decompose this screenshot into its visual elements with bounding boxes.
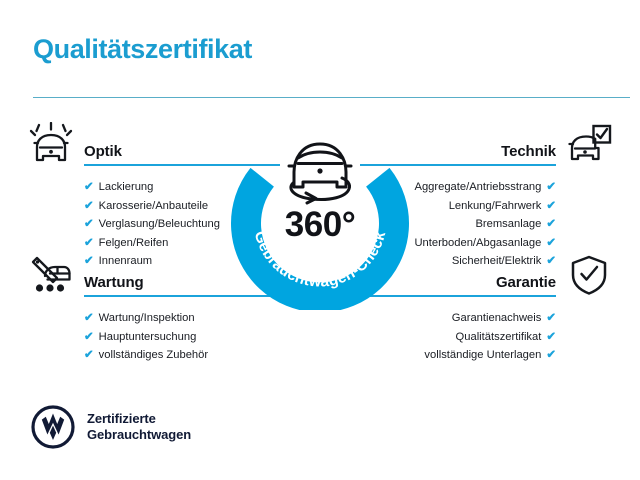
section-title: Optik bbox=[84, 143, 122, 160]
list-item-label: Verglasung/Beleuchtung bbox=[99, 218, 220, 230]
check-icon: ✔ bbox=[546, 331, 556, 343]
footer-line-1: Zertifizierte bbox=[87, 411, 191, 427]
footer-line-2: Gebrauchtwagen bbox=[87, 427, 191, 443]
check-icon: ✔ bbox=[546, 312, 556, 324]
section-title: Wartung bbox=[84, 274, 144, 291]
list-item-label: Garantienachweis bbox=[452, 312, 542, 324]
list-item: ✔Wartung/Inspektion bbox=[28, 309, 280, 328]
check-icon: ✔ bbox=[546, 237, 556, 249]
check-icon: ✔ bbox=[84, 200, 94, 212]
section-title: Garantie bbox=[496, 274, 556, 291]
check-icon: ✔ bbox=[84, 218, 94, 230]
shield-check-icon bbox=[566, 253, 612, 297]
list-item-label: Unterboden/Abgasanlage bbox=[414, 237, 541, 249]
check-icon: ✔ bbox=[546, 349, 556, 361]
list-item-label: Hauptuntersuchung bbox=[99, 331, 197, 343]
footer-logo: Zertifizierte Gebrauchtwagen bbox=[31, 404, 191, 450]
wrench-car-icon bbox=[28, 253, 74, 297]
check-icon: ✔ bbox=[84, 312, 94, 324]
list-item-label: Karosserie/Anbauteile bbox=[99, 200, 208, 212]
badge-360-gebrauchtwagen-check: Gebrauchtwagen-Check 360° bbox=[224, 112, 416, 310]
check-icon: ✔ bbox=[84, 349, 94, 361]
car-rotation-icon bbox=[289, 144, 351, 203]
check-icon: ✔ bbox=[546, 218, 556, 230]
list-item-label: Wartung/Inspektion bbox=[99, 312, 195, 324]
list-item: ✔vollständiges Zubehör bbox=[28, 346, 280, 365]
list-item-label: vollständige Unterlagen bbox=[424, 349, 541, 361]
check-icon: ✔ bbox=[84, 237, 94, 249]
list-item: Qualitätszertifikat✔ bbox=[360, 328, 612, 347]
footer-logo-text: Zertifizierte Gebrauchtwagen bbox=[87, 411, 191, 443]
list-item: Garantienachweis✔ bbox=[360, 309, 612, 328]
vw-logo-icon bbox=[31, 405, 75, 449]
list-item: vollständige Unterlagen✔ bbox=[360, 346, 612, 365]
check-icon: ✔ bbox=[546, 200, 556, 212]
title-divider bbox=[33, 97, 630, 98]
list-item-label: Lackierung bbox=[99, 181, 154, 193]
list-item: ✔Hauptuntersuchung bbox=[28, 328, 280, 347]
page-title: Qualitätszertifikat bbox=[33, 34, 252, 65]
list-item-label: Qualitätszertifikat bbox=[456, 331, 542, 343]
list-item-label: Bremsanlage bbox=[475, 218, 541, 230]
certificate-page: Qualitätszertifikat bbox=[0, 0, 640, 480]
list-item-label: Lenkung/Fahrwerk bbox=[449, 200, 542, 212]
list-item-label: Felgen/Reifen bbox=[99, 237, 169, 249]
car-shine-icon bbox=[28, 122, 74, 166]
badge-center-label: 360° bbox=[285, 205, 355, 244]
check-icon: ✔ bbox=[546, 181, 556, 193]
section-title: Technik bbox=[501, 143, 556, 160]
check-icon: ✔ bbox=[84, 331, 94, 343]
car-checkbox-icon bbox=[566, 122, 612, 166]
list-item-label: Aggregate/Antriebsstrang bbox=[414, 181, 541, 193]
check-icon: ✔ bbox=[84, 181, 94, 193]
list-item-label: vollständiges Zubehör bbox=[99, 349, 208, 361]
